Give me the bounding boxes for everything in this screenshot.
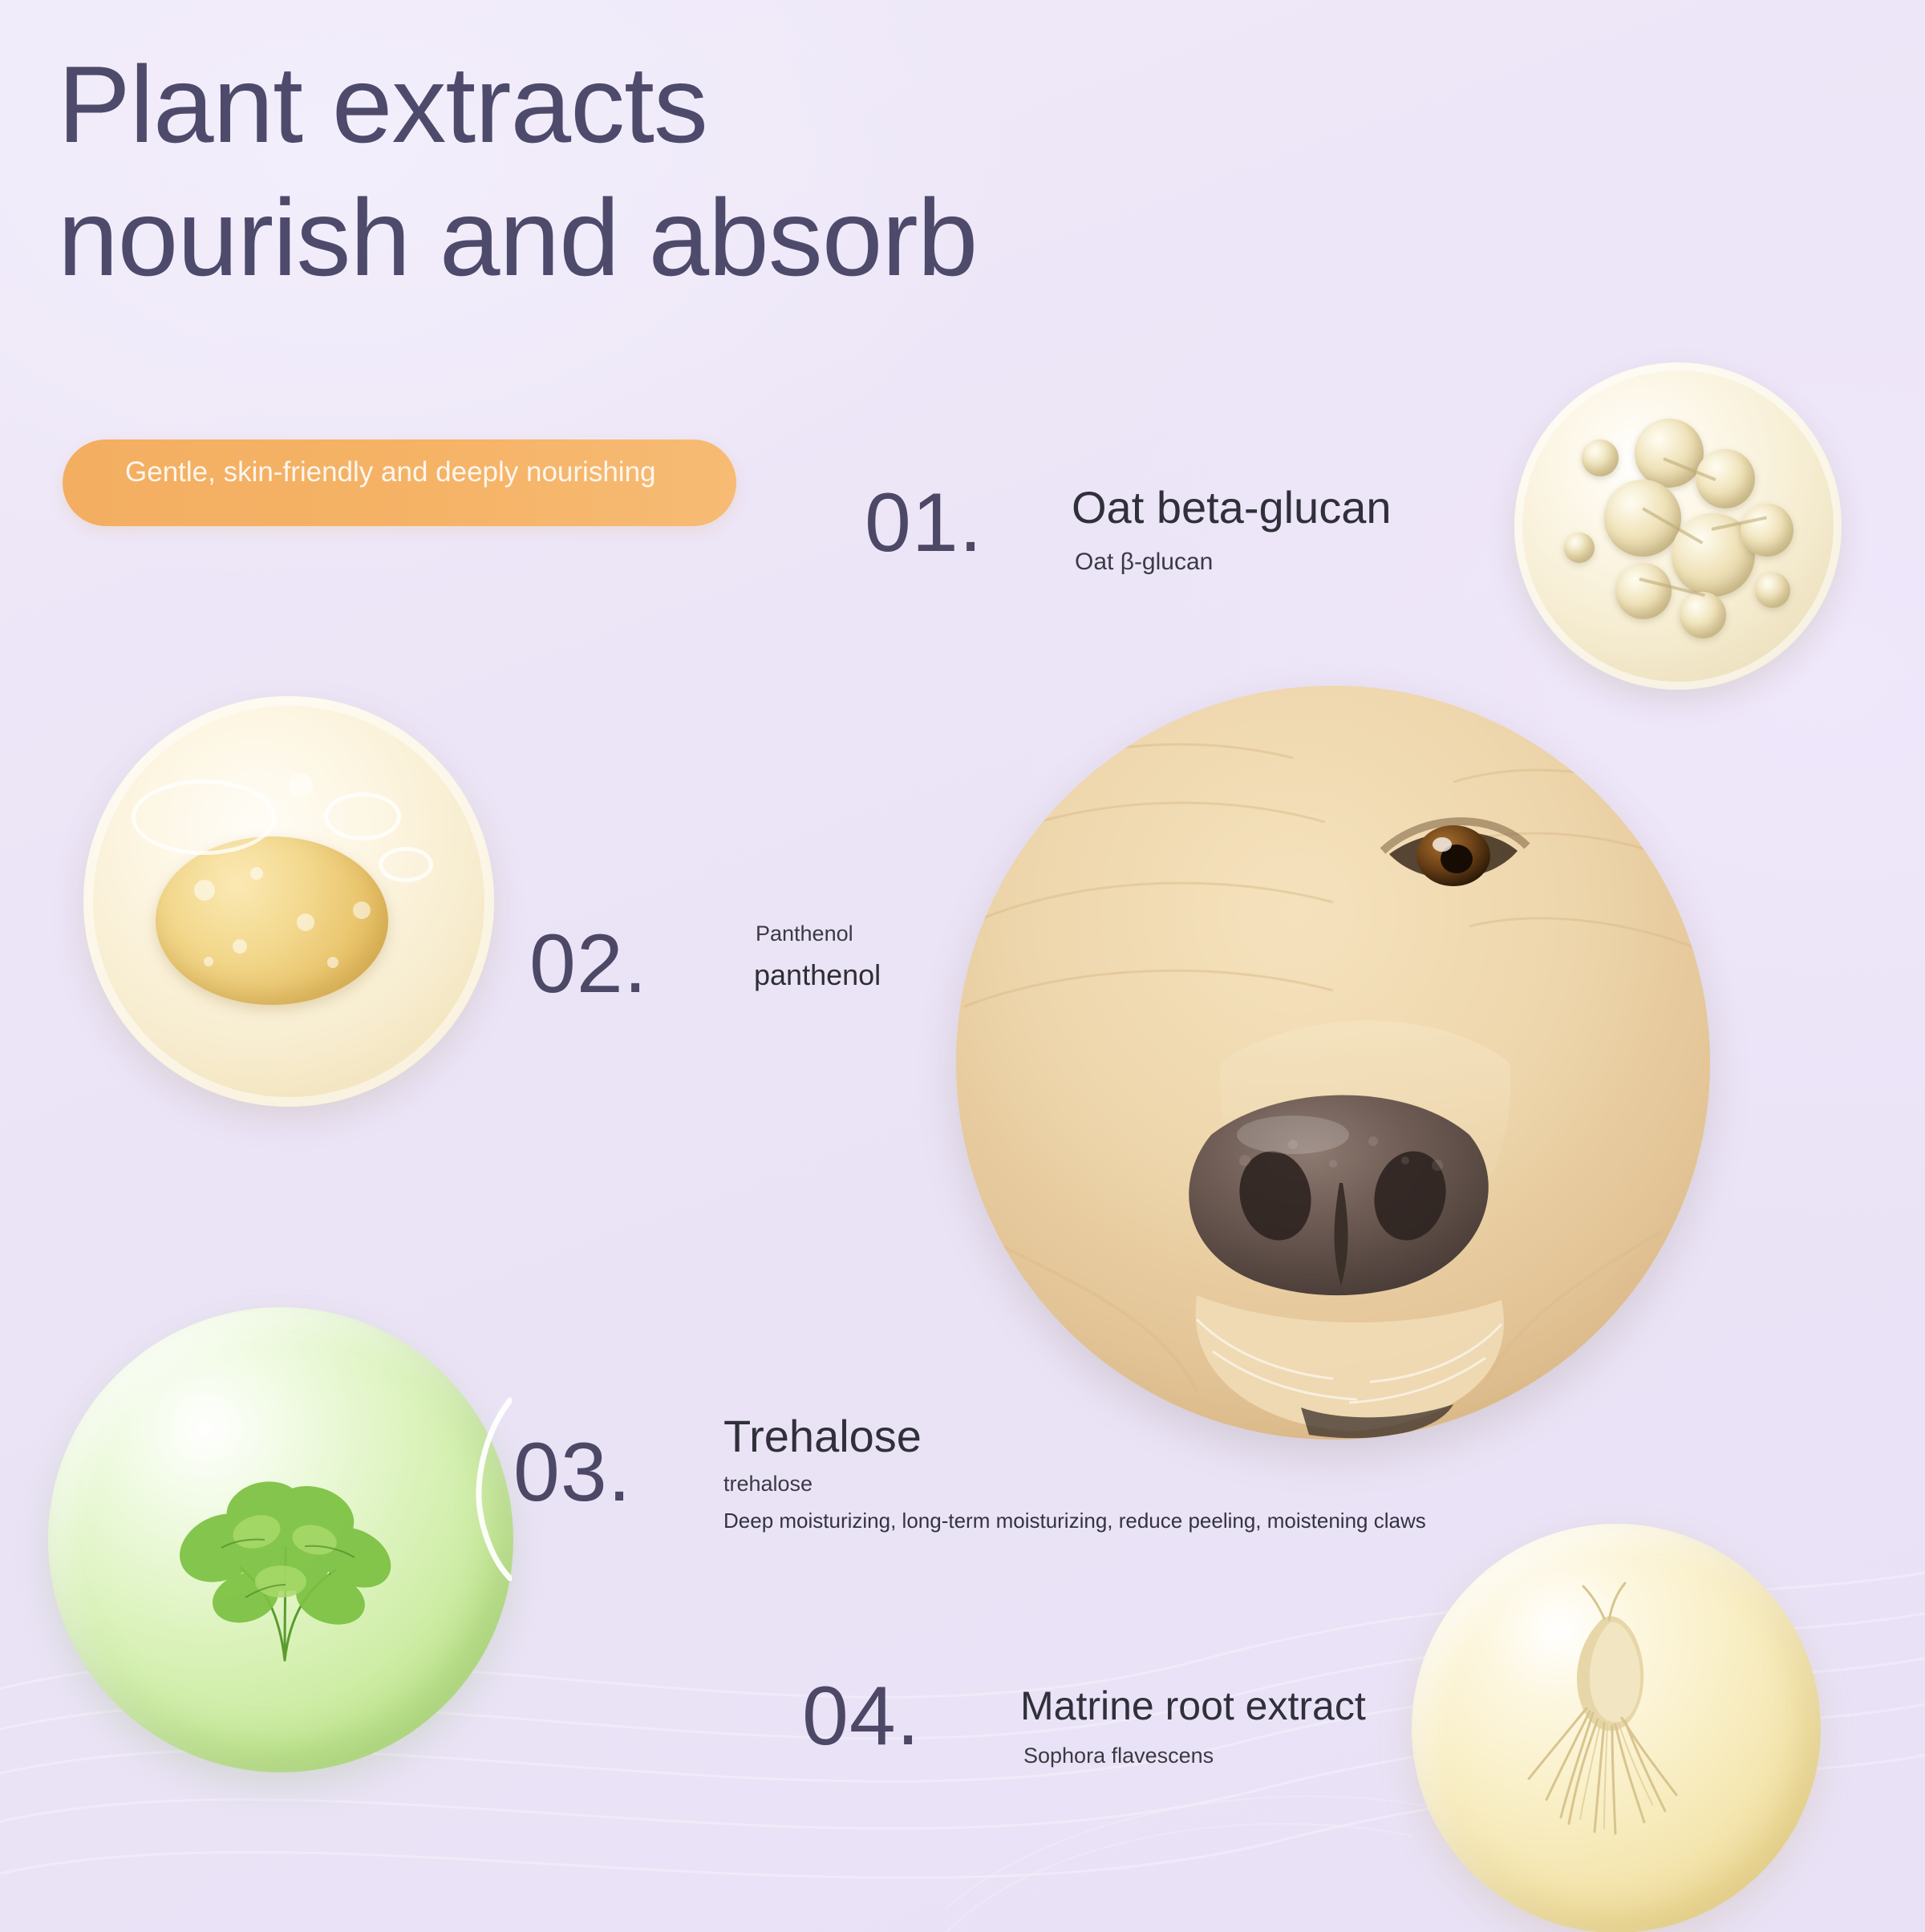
bracket-connector-icon [470,1397,512,1582]
dog-face-closeup-photo [956,686,1710,1440]
ingredient-name: Oat beta-glucan [1072,483,1391,533]
ingredient-name: Trehalose [723,1412,922,1461]
ingredient-subtitle: Panthenol [756,920,853,948]
amber-gel-blob [156,836,388,1005]
tagline-badge-label: Gentle, skin-friendly and deeply nourish… [125,452,687,494]
ingredient-name: Matrine root extract [1020,1684,1366,1728]
petri-dish-oat-beta-glucan-molecules [1514,363,1842,690]
ginseng-root-illustration [1412,1524,1821,1932]
page-title: Plant extracts nourish and absorb [58,38,1341,305]
ingredient-subtitle: Sophora flavescens [1023,1742,1214,1770]
ingredient-name: panthenol [754,958,881,992]
ingredient-number: 04. [802,1675,921,1758]
algae-illustration [144,1428,425,1668]
ingredient-subtitle: Oat β-glucan [1075,547,1213,577]
ingredient-number: 02. [529,922,648,1006]
ingredient-subtitle: trehalose [723,1470,813,1498]
green-gel-bubble-algae-trehalose [48,1307,513,1772]
ingredient-number: 03. [513,1431,632,1514]
ingredient-description: Deep moisturizing, long-term moisturizin… [723,1508,1426,1535]
ingredient-number: 01. [865,481,983,565]
product-ingredient-poster: Plant extracts nourish and absorb Gentle… [0,0,1925,1932]
petri-dish-amber-gel-panthenol [83,696,494,1107]
amber-gel-bubble-ginseng-root [1412,1524,1821,1932]
dog-face-illustration [956,686,1710,1440]
